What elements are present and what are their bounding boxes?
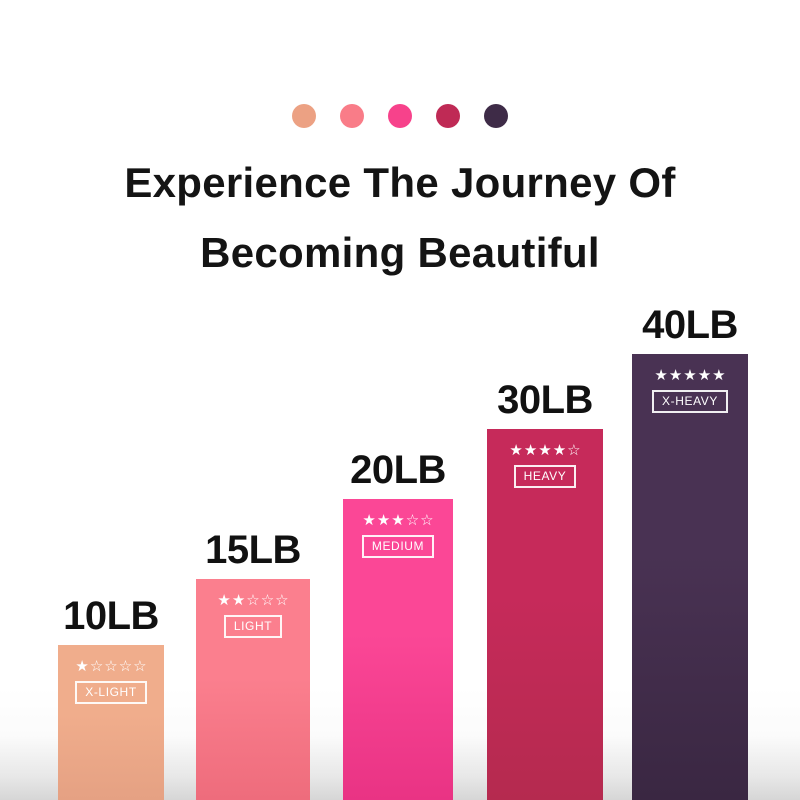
star-empty-icon: ☆	[246, 593, 259, 608]
bar-10lb[interactable]: ★☆☆☆☆X-LIGHT	[58, 645, 164, 800]
bar-weight-label-30lb: 30LB	[497, 378, 593, 423]
star-rating-15lb: ★★☆☆☆	[217, 593, 288, 608]
bar-weight-label-15lb: 15LB	[205, 528, 301, 573]
bar-20lb[interactable]: ★★★☆☆MEDIUM	[343, 499, 453, 800]
star-empty-icon: ☆	[275, 593, 288, 608]
bar-content-20lb: ★★★☆☆MEDIUM	[343, 513, 453, 558]
resistance-band-bar-chart: 10LB★☆☆☆☆X-LIGHT15LB★★☆☆☆LIGHT20LB★★★☆☆M…	[0, 0, 800, 800]
bar-fill-40lb	[632, 354, 748, 800]
star-filled-icon: ★	[712, 368, 725, 383]
resistance-badge-20lb: MEDIUM	[362, 535, 434, 558]
star-filled-icon: ★	[538, 443, 551, 458]
star-empty-icon: ☆	[567, 443, 580, 458]
star-filled-icon: ★	[669, 368, 682, 383]
star-rating-30lb: ★★★★☆	[509, 443, 580, 458]
bar-weight-label-40lb: 40LB	[642, 303, 738, 348]
star-filled-icon: ★	[683, 368, 696, 383]
bar-content-30lb: ★★★★☆HEAVY	[487, 443, 603, 488]
bar-15lb[interactable]: ★★☆☆☆LIGHT	[196, 579, 310, 800]
resistance-badge-10lb: X-LIGHT	[75, 681, 147, 704]
bar-weight-label-20lb: 20LB	[350, 448, 446, 493]
star-filled-icon: ★	[524, 443, 537, 458]
star-filled-icon: ★	[391, 513, 404, 528]
bar-group-15lb[interactable]: 15LB★★☆☆☆LIGHT	[196, 517, 310, 800]
star-filled-icon: ★	[377, 513, 390, 528]
star-empty-icon: ☆	[261, 593, 274, 608]
star-empty-icon: ☆	[420, 513, 433, 528]
star-filled-icon: ★	[75, 659, 88, 674]
bar-group-40lb[interactable]: 40LB★★★★★X-HEAVY	[632, 292, 748, 800]
star-rating-20lb: ★★★☆☆	[362, 513, 433, 528]
resistance-badge-30lb: HEAVY	[514, 465, 577, 488]
bar-group-20lb[interactable]: 20LB★★★☆☆MEDIUM	[343, 437, 453, 800]
star-empty-icon: ☆	[119, 659, 132, 674]
bar-30lb[interactable]: ★★★★☆HEAVY	[487, 429, 603, 800]
star-rating-40lb: ★★★★★	[654, 368, 725, 383]
bar-group-30lb[interactable]: 30LB★★★★☆HEAVY	[487, 367, 603, 800]
star-filled-icon: ★	[509, 443, 522, 458]
star-filled-icon: ★	[553, 443, 566, 458]
bar-content-15lb: ★★☆☆☆LIGHT	[196, 593, 310, 638]
star-filled-icon: ★	[698, 368, 711, 383]
bar-group-10lb[interactable]: 10LB★☆☆☆☆X-LIGHT	[58, 583, 164, 800]
star-filled-icon: ★	[654, 368, 667, 383]
bar-40lb[interactable]: ★★★★★X-HEAVY	[632, 354, 748, 800]
star-filled-icon: ★	[362, 513, 375, 528]
bar-content-10lb: ★☆☆☆☆X-LIGHT	[58, 659, 164, 704]
star-empty-icon: ☆	[90, 659, 103, 674]
poster-canvas: Experience The Journey Of Becoming Beaut…	[0, 0, 800, 800]
resistance-badge-40lb: X-HEAVY	[652, 390, 728, 413]
bar-weight-label-10lb: 10LB	[63, 594, 159, 639]
star-filled-icon: ★	[217, 593, 230, 608]
resistance-badge-15lb: LIGHT	[224, 615, 282, 638]
star-empty-icon: ☆	[104, 659, 117, 674]
star-empty-icon: ☆	[406, 513, 419, 528]
star-empty-icon: ☆	[133, 659, 146, 674]
star-filled-icon: ★	[232, 593, 245, 608]
bar-content-40lb: ★★★★★X-HEAVY	[632, 368, 748, 413]
star-rating-10lb: ★☆☆☆☆	[75, 659, 146, 674]
